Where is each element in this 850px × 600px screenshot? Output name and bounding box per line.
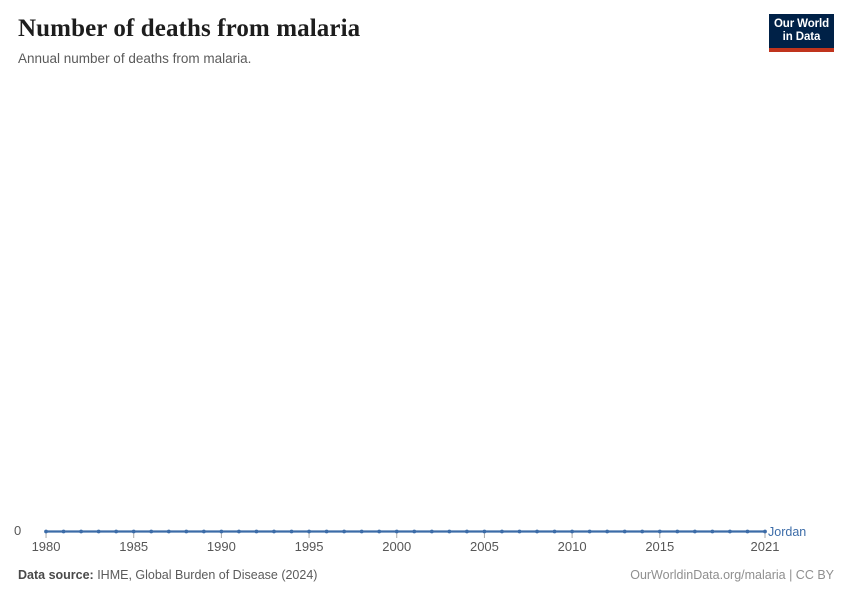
data-point[interactable] [535,530,539,534]
data-point[interactable] [623,530,627,534]
data-point[interactable] [395,530,399,534]
data-point[interactable] [219,530,223,534]
data-point[interactable] [675,530,679,534]
data-point[interactable] [447,530,451,534]
data-point[interactable] [360,530,364,534]
data-point[interactable] [342,530,346,534]
x-axis-tick-label-2010: 2010 [558,539,587,554]
data-point[interactable] [728,530,732,534]
footer-data-source-label: Data source: [18,568,94,582]
data-point[interactable] [518,530,522,534]
data-point[interactable] [307,530,311,534]
x-axis-tick-label-2005: 2005 [470,539,499,554]
data-point[interactable] [412,530,416,534]
x-axis-tick-label-2021: 2021 [751,539,780,554]
data-point[interactable] [483,530,487,534]
data-point[interactable] [132,530,136,534]
data-point[interactable] [290,530,294,534]
x-axis-tick-label-1995: 1995 [295,539,324,554]
data-point[interactable] [62,530,66,534]
data-point[interactable] [570,530,574,534]
x-axis-tick-label-2015: 2015 [645,539,674,554]
series-label-jordan[interactable]: Jordan [768,525,806,539]
data-point[interactable] [149,530,153,534]
data-point[interactable] [693,530,697,534]
data-point[interactable] [79,530,83,534]
data-point[interactable] [97,530,101,534]
data-point[interactable] [430,530,434,534]
data-point[interactable] [553,530,557,534]
data-point[interactable] [325,530,329,534]
data-point[interactable] [710,530,714,534]
data-point[interactable] [640,530,644,534]
x-axis-tick-label-1980: 1980 [32,539,61,554]
line-chart-svg [0,0,850,600]
data-point[interactable] [605,530,609,534]
x-axis-tick-label-1990: 1990 [207,539,236,554]
data-point[interactable] [44,530,48,534]
footer-data-source-text: IHME, Global Burden of Disease (2024) [94,568,318,582]
data-point[interactable] [184,530,188,534]
data-point[interactable] [167,530,171,534]
data-point[interactable] [658,530,662,534]
data-point[interactable] [255,530,259,534]
data-point[interactable] [114,530,118,534]
data-point[interactable] [377,530,381,534]
data-point[interactable] [202,530,206,534]
data-point[interactable] [763,530,767,534]
data-point[interactable] [588,530,592,534]
data-point[interactable] [500,530,504,534]
x-axis-tick-label-1985: 1985 [119,539,148,554]
x-axis-tick-marks [46,533,765,538]
x-axis-tick-label-2000: 2000 [382,539,411,554]
data-point[interactable] [237,530,241,534]
data-point[interactable] [465,530,469,534]
footer-url[interactable]: OurWorldinData.org/malaria | CC BY [630,568,834,583]
data-point[interactable] [272,530,276,534]
data-point[interactable] [746,530,750,534]
chart-footer: Data source: IHME, Global Burden of Dise… [0,568,850,588]
footer-data-source: Data source: IHME, Global Burden of Dise… [18,568,317,583]
